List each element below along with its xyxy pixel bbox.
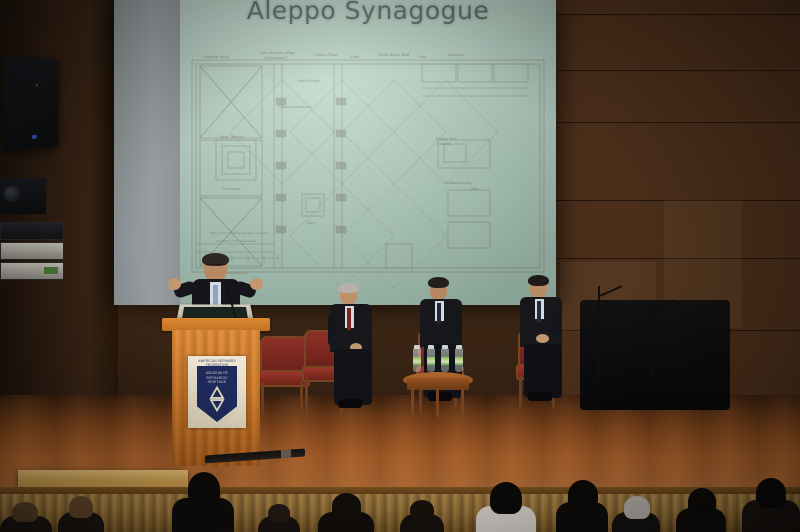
panelist-seated-1 [328,285,388,415]
svg-text:West Terrace: West Terrace [220,135,244,139]
audience-person [476,484,536,532]
speaker-right-hand [250,278,263,290]
audience-person [556,462,608,532]
audience-person [742,472,800,532]
audience-person [318,494,374,532]
svg-text:Water Basin Wall: Water Basin Wall [378,53,410,57]
podium-banner: AMERICAN SEPHARDI FEDERATION MUSEUM OF S… [188,356,246,428]
banner-org-text: AMERICAN SEPHARDI FEDERATION [188,359,246,367]
eyeglasses-icon [205,264,226,269]
svg-text:New Eastern Wing: New Eastern Wing [260,51,295,55]
audience-person [58,498,104,532]
svg-text:North Court: North Court [298,79,321,83]
microphone-stand-1 [598,286,600,382]
audience-row [0,462,800,532]
auditorium-scene: Aleppo Synagogue [0,0,800,532]
audience-person [172,470,234,532]
svg-text:Gate: Gate [470,187,479,191]
svg-text:Plan of the Great Synagogue of: Plan of the Great Synagogue of Aleppo [210,231,269,235]
av-equipment-rack [0,222,62,290]
piano-dark-object [580,300,730,410]
audience-person [0,504,52,532]
water-bottle-4 [455,348,463,372]
svg-text:Central Courtyard: Central Courtyard [278,105,312,109]
svg-text:according to R. Kassabian: according to R. Kassabian [216,239,256,243]
audience-person [676,488,726,532]
audience-person [400,502,444,532]
water-bottle-2 [427,348,435,372]
microphone-stand-2 [650,300,652,382]
audience-person [258,506,300,532]
svg-text:Sahn: Sahn [350,55,360,59]
podium-body: AMERICAN SEPHARDI FEDERATION MUSEUM OF S… [172,330,260,466]
chair-1 [258,336,306,418]
svg-text:Court of Sun: Court of Sun [314,53,338,57]
svg-text:Cave: Cave [306,221,315,225]
side-table [403,362,473,418]
banner-shield: MUSEUM OF SEPHARDIC HERITAGE [197,366,237,422]
speaker-left-hand [168,278,181,290]
svg-text:Southern Wing: Southern Wing [444,181,472,185]
svg-text:Gate: Gate [418,55,427,59]
svg-text:Courtyard: Courtyard [222,187,241,191]
star-of-david-icon [204,386,230,412]
svg-text:("Mustarab"): ("Mustarab") [264,56,288,60]
water-bottle-1 [413,348,421,372]
svg-text:Heikal: Heikal [438,142,451,146]
water-bottle-3 [441,348,449,372]
banner-lines: MUSEUM OF SEPHARDIC HERITAGE [197,371,237,385]
audience-person [612,498,660,532]
svg-text:Entrance: Entrance [448,53,465,57]
loudspeaker-cabinet [4,56,58,151]
svg-text:Prayer Hall: Prayer Hall [436,137,458,141]
svg-text:Modern Wing: Modern Wing [204,55,230,59]
slide-title: Aleppo Synagogue [180,0,556,25]
panelist-seated-3 [518,278,576,412]
podium: AMERICAN SEPHARDI FEDERATION MUSEUM OF S… [170,318,262,466]
video-camera [0,178,46,214]
